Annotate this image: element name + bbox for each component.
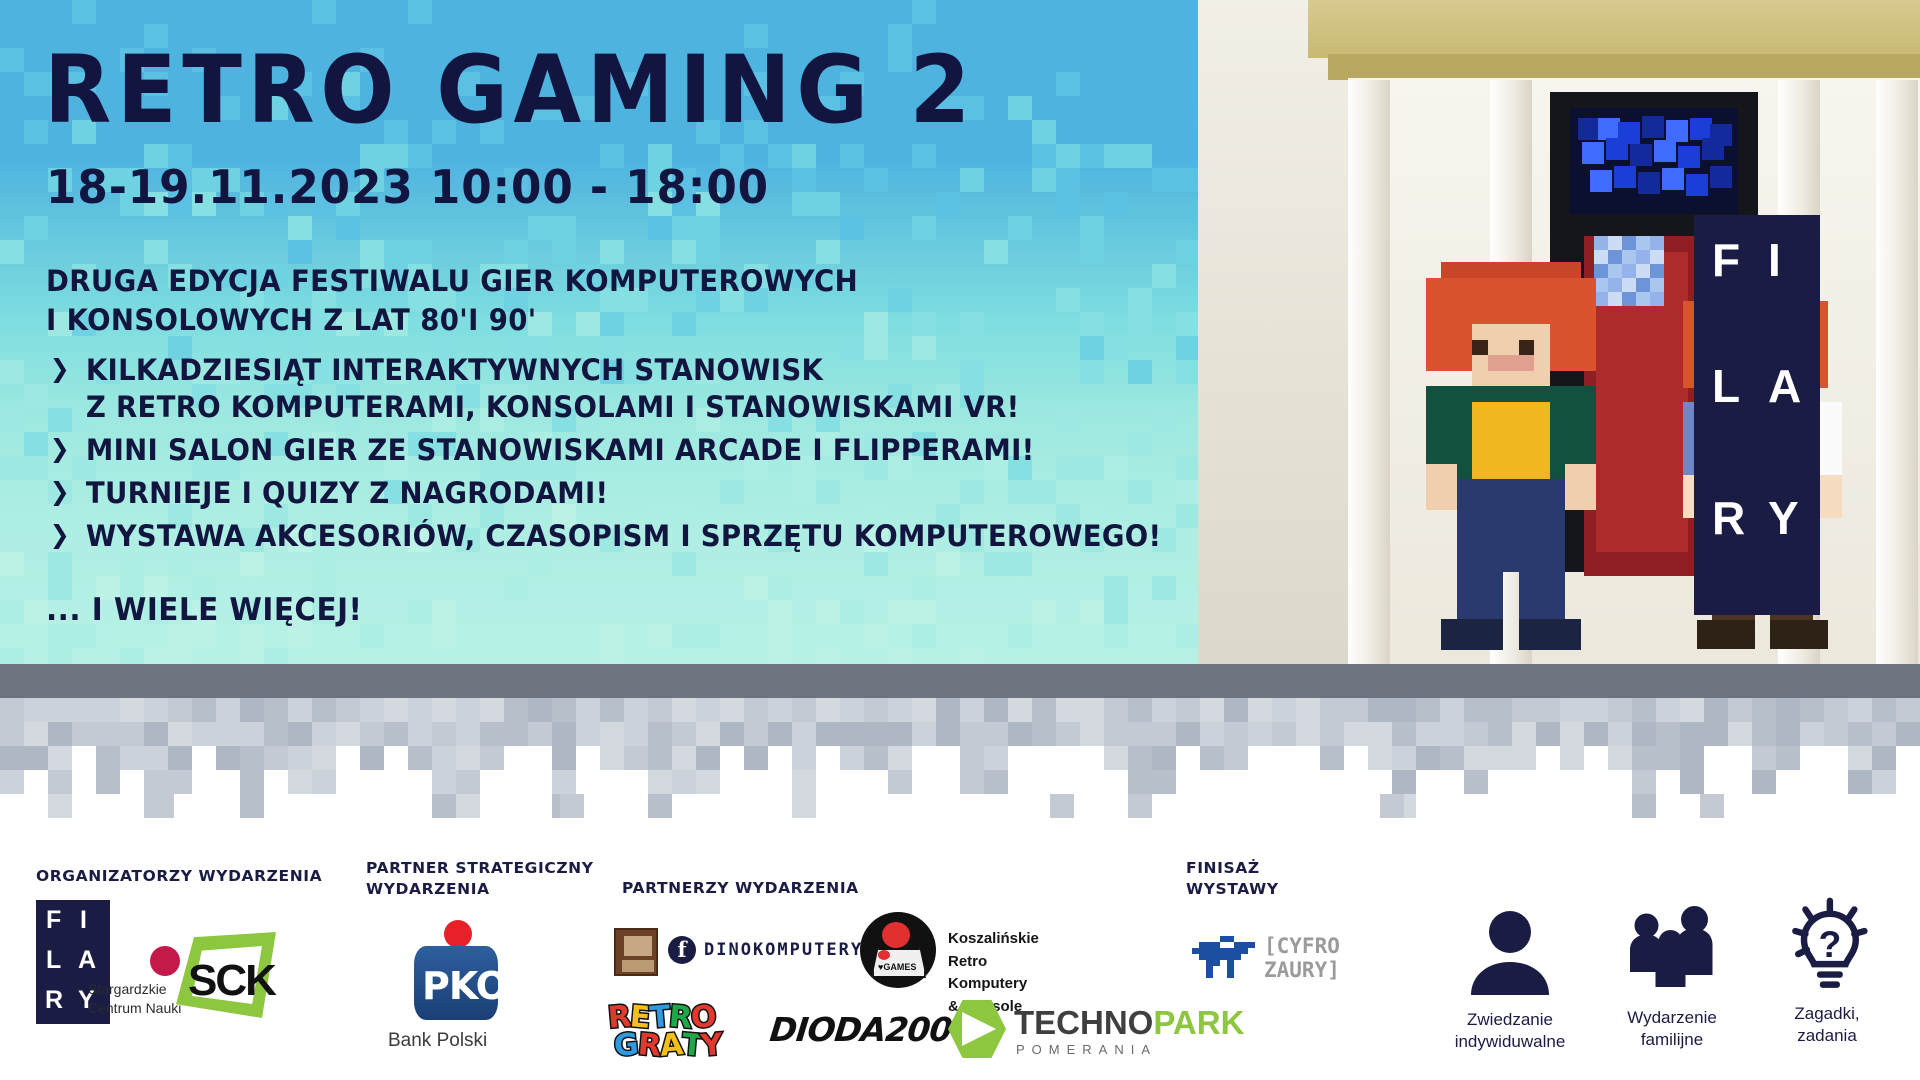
technopark-subtitle: POMERANIA	[1016, 1042, 1157, 1057]
pavement-pixel	[1560, 722, 1584, 746]
joystick-games-label: ♥GAMES	[878, 962, 916, 972]
scarf-pixel	[1622, 278, 1636, 292]
pavement-pixel	[528, 722, 552, 746]
background-pixel	[0, 408, 24, 432]
feature-list: ❯KILKADZIESIĄT INTERAKTYWNYCH STANOWISKZ…	[46, 352, 1186, 562]
pavement-pixel	[1128, 698, 1152, 722]
background-pixel	[1176, 240, 1200, 264]
background-pixel	[48, 648, 72, 664]
background-pixel	[984, 0, 1008, 24]
dinosaur-pixel	[1220, 954, 1227, 960]
background-pixel	[432, 600, 456, 624]
building-column-left	[1348, 80, 1390, 664]
background-pixel	[504, 240, 528, 264]
background-pixel	[504, 576, 528, 600]
scarf-pixel	[1608, 250, 1622, 264]
pavement-pixel	[240, 698, 264, 722]
pavement-pixel	[1608, 698, 1632, 722]
pavement-pixel	[1632, 794, 1656, 818]
pavement-pixel	[840, 722, 864, 746]
door-glass-pixel	[1662, 168, 1684, 190]
pavement-pixel	[168, 746, 192, 770]
pavement-pixel	[1488, 698, 1512, 722]
pko-dot-icon	[444, 920, 472, 948]
pavement-pixel	[864, 746, 888, 770]
filary-banner-letter: F	[1712, 237, 1742, 283]
pavement-pixel	[1752, 746, 1776, 770]
background-pixel	[696, 0, 720, 24]
background-pixel	[0, 552, 24, 576]
pavement-pixel	[1440, 698, 1464, 722]
filary-banner-letter: L	[1712, 363, 1742, 409]
pavement-pixel	[72, 722, 96, 746]
pavement-pixel	[792, 746, 816, 770]
pavement-pixel	[1728, 722, 1752, 746]
character-pixel	[1426, 324, 1473, 371]
pavement-pixel	[1488, 722, 1512, 746]
background-pixel	[840, 600, 864, 624]
pavement-pixel	[360, 698, 384, 722]
pavement-pixel	[1776, 722, 1800, 746]
pavement-pixel	[312, 698, 336, 722]
background-pixel	[0, 48, 24, 72]
background-pixel	[864, 624, 888, 648]
pavement-pixel	[1320, 722, 1344, 746]
character-pixel	[1426, 278, 1597, 325]
background-pixel	[1080, 216, 1104, 240]
pavement-pixel	[1560, 698, 1584, 722]
info-caption-individual: Zwiedzanie indywiduwalne	[1430, 1009, 1590, 1053]
background-pixel	[408, 600, 432, 624]
pavement-pixel	[1464, 746, 1488, 770]
scarf-pixel	[1650, 250, 1664, 264]
organizers-heading: ORGANIZATORZY WYDARZENIA	[36, 866, 322, 887]
character-pixel	[1565, 464, 1596, 511]
pavement-pixel	[432, 698, 456, 722]
hero-section: RETRO GAMING 2 18-19.11.2023 10:00 - 18:…	[0, 0, 1920, 664]
pavement-pixel	[1080, 722, 1104, 746]
pavement-pixel	[1392, 722, 1416, 746]
character-pixel	[1697, 620, 1755, 649]
pavement-pixel	[912, 698, 936, 722]
pavement-pixel	[1152, 722, 1176, 746]
feature-item-line-1: KILKADZIESIĄT INTERAKTYWNYCH STANOWISK	[86, 353, 823, 387]
building-cornice-lower	[1328, 54, 1920, 80]
pavement-pixel	[1176, 698, 1200, 722]
pavement-pixel	[408, 746, 432, 770]
pavement-pixel	[1776, 746, 1800, 770]
pavement-pixel	[96, 746, 120, 770]
pavement-pixel	[216, 698, 240, 722]
pavement-pixel	[24, 746, 48, 770]
background-pixel	[0, 648, 24, 664]
filary-banner-letter: A	[1768, 363, 1803, 409]
background-pixel	[840, 216, 864, 240]
background-pixel	[1128, 312, 1152, 336]
pavement-pixel	[672, 722, 696, 746]
pavement-pixel	[384, 698, 408, 722]
filary-banner-letter: Y	[1768, 495, 1801, 541]
background-pixel	[408, 0, 432, 24]
background-pixel	[648, 624, 672, 648]
pavement-pixel	[168, 698, 192, 722]
pavement-pixel	[984, 746, 1008, 770]
pavement-pixel	[696, 722, 720, 746]
background-pixel	[672, 240, 696, 264]
pavement-pixel	[936, 698, 960, 722]
pavement-pixel	[864, 722, 888, 746]
pavement-pixel	[624, 746, 648, 770]
background-pixel	[960, 648, 984, 664]
pavement-pixel	[1152, 770, 1176, 794]
pavement-pixel	[1464, 698, 1488, 722]
background-pixel	[264, 648, 288, 664]
pavement-pixel	[1704, 722, 1728, 746]
pavement-pixel	[48, 698, 72, 722]
background-pixel	[1056, 168, 1080, 192]
pavement-pixel	[168, 770, 192, 794]
dioda2000-logo[interactable]: DIODA2000	[768, 1010, 976, 1049]
feature-item-line-2: Z RETRO KOMPUTERAMI, KONSOLAMI I STANOWI…	[86, 389, 1129, 426]
character-pixel	[1457, 479, 1566, 572]
computer-screen-icon	[624, 936, 652, 956]
feature-list-item: ❯WYSTAWA AKCESORIÓW, CZASOPISM I SPRZĘTU…	[46, 518, 1129, 555]
pavement-pixel	[1608, 746, 1632, 770]
pavement-pixel	[120, 698, 144, 722]
pavement-pixel	[1200, 722, 1224, 746]
scarf-pixel	[1608, 236, 1622, 250]
pavement-pixel	[552, 722, 576, 746]
pavement-pixel	[1512, 722, 1536, 746]
character-pixel	[1441, 619, 1503, 650]
scarf-pixel	[1622, 250, 1636, 264]
door-glass-pixel	[1690, 118, 1712, 140]
pavement-pixel	[1056, 722, 1080, 746]
pavement-pixel	[576, 722, 600, 746]
pavement-pixel	[1848, 746, 1872, 770]
pavement-pixel	[1320, 746, 1344, 770]
dinosaur-pixel	[1192, 948, 1199, 954]
background-pixel	[1104, 624, 1128, 648]
pavement-pixel	[1440, 722, 1464, 746]
background-pixel	[1128, 96, 1152, 120]
character-pixel	[1472, 371, 1550, 387]
pavement-pixel	[1872, 770, 1896, 794]
pavement-pixel-stray	[150, 794, 174, 818]
pavement-pixel	[288, 746, 312, 770]
facebook-icon[interactable]: f	[668, 936, 696, 964]
pavement-pixel	[288, 698, 312, 722]
info-caption-puzzles: Zagadki, zadania	[1752, 1003, 1902, 1047]
bullet-marker-icon: ❯	[50, 433, 70, 465]
pavement-pixel	[1872, 698, 1896, 722]
pavement-pixel	[984, 698, 1008, 722]
dinosaur-pixel	[1206, 972, 1213, 978]
dinosaur-pixel	[1241, 948, 1248, 954]
dinosaur-pixel	[1199, 954, 1206, 960]
pavement-pixel	[1200, 746, 1224, 770]
pavement-pixel	[264, 746, 288, 770]
pavement-pixel	[1464, 770, 1488, 794]
person-icon	[1462, 902, 1558, 998]
pavement-pixel	[96, 698, 120, 722]
pavement-pixel	[120, 746, 144, 770]
pavement-pixel	[1368, 746, 1392, 770]
background-pixel	[1008, 216, 1032, 240]
sck-dot-icon	[150, 946, 180, 976]
pavement-pixel	[600, 698, 624, 722]
pavement-pixel	[1344, 698, 1368, 722]
pavement-pixel	[432, 746, 456, 770]
pavement-pixel	[1368, 722, 1392, 746]
pavement-pixel	[192, 722, 216, 746]
background-pixel	[1056, 144, 1080, 168]
scarf-pixel	[1608, 278, 1622, 292]
pavement-pixel	[1344, 722, 1368, 746]
pavement-pixel-stray	[1380, 794, 1404, 818]
background-pixel	[1128, 288, 1152, 312]
pavement-pixel	[1272, 698, 1296, 722]
pavement-pixel	[672, 770, 696, 794]
pavement-pixel	[1128, 722, 1152, 746]
pavement-pixel	[600, 722, 624, 746]
background-pixel	[432, 624, 456, 648]
pavement-pixel	[1056, 698, 1080, 722]
dinosaur-pixel	[1227, 972, 1234, 978]
pavement-pixel	[1032, 722, 1056, 746]
pavement-pixel	[240, 722, 264, 746]
pavement-pixel	[1416, 746, 1440, 770]
pavement-pixel	[1848, 722, 1872, 746]
pavement-pixel	[1224, 698, 1248, 722]
pko-logo[interactable]: PKO	[400, 920, 510, 1030]
background-pixel	[888, 288, 912, 312]
pavement-pixel	[936, 722, 960, 746]
background-pixel	[240, 648, 264, 664]
pavement-pixel	[1320, 698, 1344, 722]
background-pixel	[912, 312, 936, 336]
pavement-pixel	[264, 698, 288, 722]
sck-logo[interactable]: SCK	[148, 930, 278, 1022]
pavement-pixel	[384, 722, 408, 746]
pko-logo-letters: PKO	[422, 964, 507, 1008]
pavement-pixel	[480, 722, 504, 746]
scarf-pixel	[1650, 264, 1664, 278]
pavement-pixel	[552, 770, 576, 794]
pavement-pixel	[0, 746, 24, 770]
pavement-pixel	[192, 698, 216, 722]
filary-banner-letter: I	[1768, 237, 1783, 283]
retrograty-logo[interactable]: RETRO GRATY	[608, 1000, 742, 1064]
background-pixel	[912, 624, 936, 648]
pavement-pixel	[48, 746, 72, 770]
page-title: RETRO GAMING 2	[44, 36, 976, 145]
pavement-pixel	[432, 770, 456, 794]
background-pixel	[1080, 240, 1104, 264]
event-subtitle: DRUGA EDYCJA FESTIWALU GIER KOMPUTEROWYC…	[46, 262, 858, 339]
pavement-pixel-stray	[1050, 794, 1074, 818]
pavement-pixel	[1896, 698, 1920, 722]
filary-logo-letter: A	[78, 948, 96, 973]
pavement-pixel	[1008, 722, 1032, 746]
pavement-pixel	[0, 770, 24, 794]
background-pixel	[600, 648, 624, 664]
retrograty-letter: R	[636, 1027, 661, 1064]
pavement-pixel	[768, 722, 792, 746]
joystick-button-icon	[878, 950, 890, 960]
sck-logo-text: SCK	[188, 956, 275, 1006]
pavement-pixel	[552, 746, 576, 770]
pavement-pixel	[1848, 770, 1872, 794]
feature-item-line-1: MINI SALON GIER ZE STANOWISKAMI ARCADE I…	[86, 433, 1035, 467]
pavement-pixel	[792, 770, 816, 794]
pavement-pixel	[1128, 794, 1152, 818]
pavement-pixel	[1152, 746, 1176, 770]
pavement-pixel	[1008, 698, 1032, 722]
pavement-pixel-stray	[1700, 794, 1724, 818]
pavement-pixel	[1248, 698, 1272, 722]
background-pixel	[384, 240, 408, 264]
scarf-pixel	[1650, 292, 1664, 306]
background-pixel	[768, 600, 792, 624]
pavement-pixel	[1824, 722, 1848, 746]
pavement-pixel	[1104, 722, 1128, 746]
pavement-pixel	[408, 722, 432, 746]
filary-banner-letter: R	[1712, 495, 1747, 541]
background-pixel	[696, 216, 720, 240]
pavement-pixel	[1128, 770, 1152, 794]
filary-logo-letter: R	[45, 988, 63, 1013]
scarf-pixel	[1608, 292, 1622, 306]
character-pixel	[1441, 262, 1581, 278]
background-pixel	[768, 624, 792, 648]
background-pixel	[960, 168, 984, 192]
door-glass-pixel	[1686, 174, 1708, 196]
character-pixel	[1426, 386, 1457, 464]
retrograty-letter: G	[613, 1027, 640, 1064]
background-pixel	[768, 648, 792, 664]
pavement-pixel	[1512, 746, 1536, 770]
pavement-pixel	[1584, 722, 1608, 746]
background-pixel	[552, 240, 576, 264]
background-pixel	[1080, 600, 1104, 624]
background-pixel	[792, 144, 816, 168]
pavement-pixel	[456, 794, 480, 818]
pavement-pixel	[1416, 698, 1440, 722]
pavement-edge	[0, 664, 1920, 698]
pavement-pixel	[96, 770, 120, 794]
pavement-pixel	[792, 794, 816, 818]
pavement-pixel	[1104, 698, 1128, 722]
pavement-pixel	[432, 794, 456, 818]
feature-list-item: ❯TURNIEJE I QUIZY Z NAGRODAMI!	[46, 475, 1129, 512]
pavement-pixel	[1776, 698, 1800, 722]
pavement-pixel	[1296, 722, 1320, 746]
pavement-pixel	[888, 698, 912, 722]
background-pixel	[1032, 168, 1056, 192]
scarf-pixel	[1594, 236, 1608, 250]
background-pixel	[552, 216, 576, 240]
technopark-text-part1: TECHNO	[1014, 1004, 1153, 1041]
background-pixel	[984, 240, 1008, 264]
filary-logo-letter: I	[80, 908, 87, 933]
pavement-pixel	[1752, 722, 1776, 746]
pavement-pixel	[1488, 746, 1512, 770]
background-pixel	[888, 600, 912, 624]
pavement-pixel	[1824, 698, 1848, 722]
background-pixel	[792, 192, 816, 216]
pavement-pixel	[504, 698, 528, 722]
pavement-pixel	[960, 746, 984, 770]
pavement-pixel	[1632, 746, 1656, 770]
pavement-pixel	[792, 722, 816, 746]
pavement-pixel	[696, 746, 720, 770]
pavement-pixel	[888, 722, 912, 746]
subtitle-line-1: DRUGA EDYCJA FESTIWALU GIER KOMPUTEROWYC…	[46, 262, 858, 301]
pavement-pixel	[624, 698, 648, 722]
strategic-partner-heading: PARTNER STRATEGICZNY WYDARZENIA	[366, 858, 594, 900]
pavement-pixel	[888, 770, 912, 794]
pavement-pixel	[1104, 746, 1128, 770]
pavement-pixel	[1368, 698, 1392, 722]
background-pixel	[1104, 144, 1128, 168]
pavement-pixel	[744, 746, 768, 770]
pavement-pixel	[1392, 770, 1416, 794]
background-pixel	[312, 0, 336, 24]
filary-logo-letter: F	[46, 908, 61, 933]
scarf-pixel	[1622, 264, 1636, 278]
pavement-pixel	[1728, 698, 1752, 722]
background-pixel	[1080, 0, 1104, 24]
pavement-pixel	[312, 722, 336, 746]
background-pixel	[1104, 192, 1128, 216]
pavement-pixel	[1536, 698, 1560, 722]
pavement-pixel	[648, 770, 672, 794]
retrograty-letter: A	[658, 1027, 683, 1064]
subtitle-line-2: I KONSOLOWYCH Z LAT 80'I 90'	[46, 301, 858, 340]
pavement-pixel	[696, 770, 720, 794]
background-pixel	[912, 144, 936, 168]
background-pixel	[960, 312, 984, 336]
background-pixel	[0, 360, 24, 384]
info-item-family: Wydarzenie familijne	[1592, 900, 1752, 1051]
background-pixel	[24, 384, 48, 408]
background-pixel	[1032, 600, 1056, 624]
pavement-pixel	[552, 698, 576, 722]
background-pixel	[1152, 576, 1176, 600]
background-pixel	[1056, 288, 1080, 312]
scarf-pixel	[1650, 278, 1664, 292]
scarf-pixel	[1622, 292, 1636, 306]
background-pixel	[1152, 168, 1176, 192]
pavement-pixel	[1416, 722, 1440, 746]
pavement-pixel	[168, 722, 192, 746]
background-pixel	[72, 0, 96, 24]
pavement-pixel	[144, 746, 168, 770]
background-pixel	[552, 0, 576, 24]
background-pixel	[672, 216, 696, 240]
pavement-pixel	[144, 722, 168, 746]
pavement-pixel	[48, 770, 72, 794]
background-pixel	[1056, 72, 1080, 96]
pavement-pixel	[672, 746, 696, 770]
pavement-pixel	[360, 722, 384, 746]
door-glass-panel	[1570, 108, 1738, 214]
background-pixel	[864, 312, 888, 336]
feature-item-line-1: WYSTAWA AKCESORIÓW, CZASOPISM I SPRZĘTU …	[86, 519, 1161, 553]
pavement-pixel	[600, 746, 624, 770]
background-pixel	[1008, 72, 1032, 96]
